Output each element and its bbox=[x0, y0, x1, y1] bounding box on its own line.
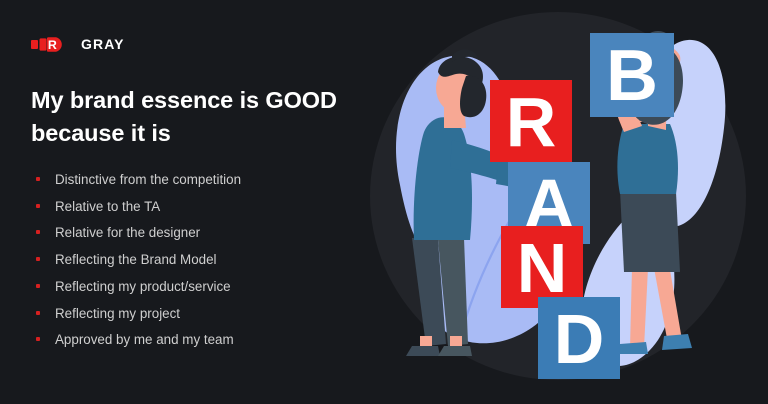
logo-wordmark: GRAY bbox=[81, 37, 125, 51]
woman-torso bbox=[617, 124, 678, 194]
title-line-1: My brand essence is GOOD bbox=[31, 87, 337, 113]
list-item: Reflecting my project bbox=[34, 307, 374, 320]
bullet-dot-icon bbox=[36, 177, 40, 181]
bullet-dot-icon bbox=[36, 284, 40, 288]
woman-skirt bbox=[620, 190, 680, 272]
page-title: My brand essence is GOOD because it is bbox=[31, 84, 381, 151]
list-item-label: Reflecting my project bbox=[55, 306, 180, 321]
man-ankle-back bbox=[420, 336, 432, 346]
list-item-label: Reflecting the Brand Model bbox=[55, 252, 217, 267]
list-item: Relative for the designer bbox=[34, 226, 374, 239]
bullet-dot-icon bbox=[36, 204, 40, 208]
block-n[interactable]: N bbox=[501, 226, 583, 308]
list-item: Distinctive from the competition bbox=[34, 173, 374, 186]
block-b[interactable]: B bbox=[590, 33, 674, 117]
man-shoe-back bbox=[406, 346, 440, 356]
list-item: Reflecting the Brand Model bbox=[34, 253, 374, 266]
block-letter-r: R bbox=[506, 83, 557, 161]
man-shoe-front bbox=[438, 346, 472, 356]
bullet-dot-icon bbox=[36, 311, 40, 315]
list-item: Relative to the TA bbox=[34, 200, 374, 213]
svg-text:R: R bbox=[48, 38, 57, 52]
block-letter-n: N bbox=[517, 229, 568, 307]
bullet-dot-icon bbox=[36, 337, 40, 341]
list-item-label: Relative for the designer bbox=[55, 225, 200, 240]
list-item: Reflecting my product/service bbox=[34, 280, 374, 293]
list-item-label: Distinctive from the competition bbox=[55, 172, 241, 187]
bullet-dot-icon bbox=[36, 257, 40, 261]
brand-blocks-illustration: B R A N D bbox=[348, 0, 768, 404]
list-item-label: Reflecting my product/service bbox=[55, 279, 231, 294]
block-d[interactable]: D bbox=[538, 297, 620, 379]
list-item-label: Relative to the TA bbox=[55, 199, 160, 214]
block-r[interactable]: R bbox=[490, 80, 572, 162]
slide: R GRAY My brand essence is GOOD because … bbox=[0, 0, 768, 404]
bullet-list: Distinctive from the competition Relativ… bbox=[34, 173, 374, 360]
list-item-label: Approved by me and my team bbox=[55, 332, 234, 347]
left-content-column: R GRAY My brand essence is GOOD because … bbox=[0, 0, 390, 404]
block-letter-b: B bbox=[606, 36, 658, 116]
woman-shoe-front bbox=[662, 334, 692, 350]
brand-logo[interactable]: R GRAY bbox=[31, 34, 125, 54]
man-ankle-front bbox=[450, 336, 462, 346]
title-line-2: because it is bbox=[31, 120, 171, 146]
megaphone-r-icon: R bbox=[31, 35, 77, 54]
bullet-dot-icon bbox=[36, 230, 40, 234]
block-letter-d: D bbox=[554, 300, 605, 378]
list-item: Approved by me and my team bbox=[34, 333, 374, 346]
